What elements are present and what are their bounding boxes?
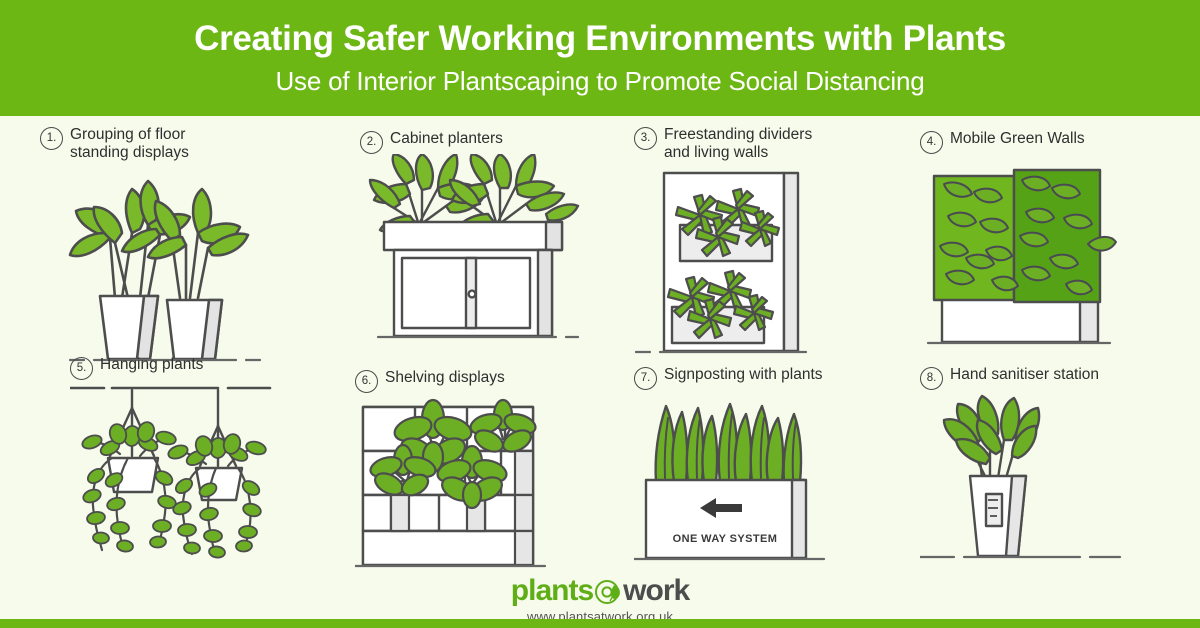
item-5-label-row: 5. Hanging plants (70, 356, 330, 380)
logo-plants-text: plants (511, 576, 593, 606)
item-3: 3. Freestanding dividers and living wall… (634, 126, 904, 383)
item-6-label-row: 6. Shelving displays (355, 369, 615, 393)
item-2-label-row: 2. Cabinet planters (360, 130, 630, 154)
page-title: Creating Safer Working Environments with… (194, 20, 1006, 59)
cabinet-planter-illustration (360, 154, 630, 367)
item-1: 1. Grouping of floor standing displays (40, 126, 310, 383)
item-7: 7. Signposting with plants (634, 366, 894, 580)
item-7-number: 7. (634, 367, 657, 390)
item-5-number: 5. (70, 357, 93, 380)
item-5-label: Hanging plants (100, 356, 203, 374)
one-way-system-text: ONE WAY SYSTEM (673, 533, 778, 545)
item-8-label-row: 8. Hand sanitiser station (920, 366, 1180, 390)
hanging-plants-illustration (70, 380, 330, 575)
item-6: 6. Shelving displays (355, 369, 615, 583)
header-banner: Creating Safer Working Environments with… (0, 0, 1200, 116)
items-grid: 1. Grouping of floor standing displays (0, 116, 1200, 571)
item-6-label: Shelving displays (385, 369, 505, 387)
floor-standing-displays-illustration (40, 163, 310, 383)
item-8-label: Hand sanitiser station (950, 366, 1099, 384)
item-3-label-row: 3. Freestanding dividers and living wall… (634, 126, 904, 163)
shelving-display-illustration (355, 393, 615, 583)
item-2-label: Cabinet planters (390, 130, 503, 148)
item-4: 4. Mobile Green Walls (920, 130, 1190, 367)
item-4-label-row: 4. Mobile Green Walls (920, 130, 1190, 154)
item-8: 8. Hand sanitiser station (920, 366, 1180, 580)
plants-at-work-logo[interactable]: plants work (511, 576, 689, 606)
item-7-label-row: 7. Signposting with plants (634, 366, 894, 390)
item-1-number: 1. (40, 127, 63, 150)
item-2-number: 2. (360, 131, 383, 154)
item-1-label: Grouping of floor standing displays (70, 126, 220, 163)
item-4-number: 4. (920, 131, 943, 154)
item-7-label: Signposting with plants (664, 366, 823, 384)
item-8-number: 8. (920, 367, 943, 390)
logo-at-icon (593, 576, 623, 606)
item-3-number: 3. (634, 127, 657, 150)
freestanding-divider-illustration (634, 163, 904, 383)
hand-sanitiser-station-illustration (920, 390, 1180, 580)
logo-work-text: work (623, 576, 689, 606)
item-4-label: Mobile Green Walls (950, 130, 1085, 148)
bottom-accent-bar (0, 619, 1200, 628)
signposting-planter-illustration: ONE WAY SYSTEM (634, 390, 894, 580)
page-subtitle: Use of Interior Plantscaping to Promote … (275, 67, 924, 96)
item-5: 5. Hanging plants (70, 356, 330, 575)
item-6-number: 6. (355, 370, 378, 393)
mobile-green-wall-illustration (920, 154, 1190, 367)
item-3-label: Freestanding dividers and living walls (664, 126, 834, 163)
item-2: 2. Cabinet planters (360, 130, 630, 367)
item-1-label-row: 1. Grouping of floor standing displays (40, 126, 310, 163)
